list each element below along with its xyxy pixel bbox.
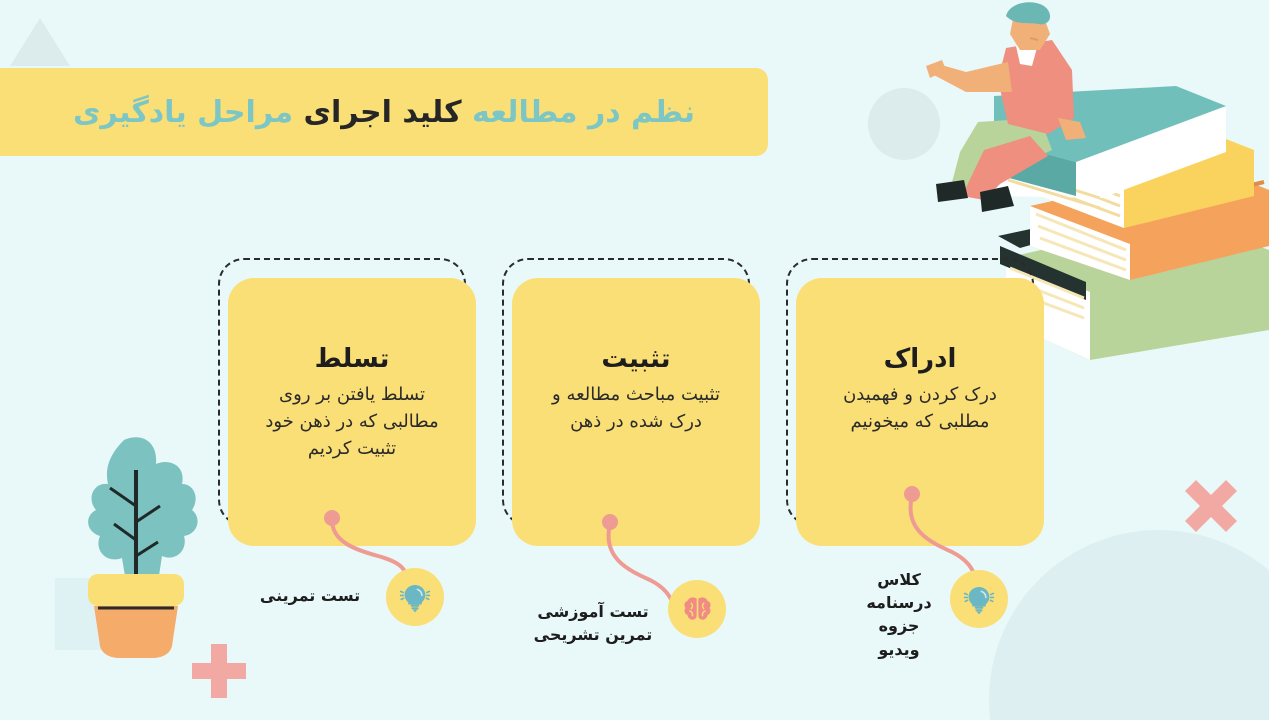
step-card-title: تثبیت [538, 344, 734, 375]
step-card-description: درک کردن و فهمیدن مطلبی که میخونیم [822, 381, 1018, 435]
step-icon-label-tasallot: تست تمرینی [250, 584, 370, 607]
lightbulb-icon [963, 583, 995, 615]
step-icon-badge-tasbit[interactable] [668, 580, 726, 638]
step-icon-label-tasbit: تست آموزشی تمرین تشریحی [528, 600, 658, 646]
title-part-teal-left: مراحل یادگیری [73, 95, 293, 130]
circle-shape-icon [868, 88, 940, 160]
lightbulb-icon [399, 581, 431, 613]
step-card-title: ادراک [822, 344, 1018, 375]
brain-icon [682, 594, 713, 625]
triangle-shape-icon [10, 18, 70, 66]
step-card-title: تسلط [254, 344, 450, 375]
title-part-dark: کلید اجرای [304, 95, 462, 130]
step-icon-badge-edrak[interactable] [950, 570, 1008, 628]
page-title: نظم در مطالعه کلید اجرای مراحل یادگیری [73, 93, 695, 132]
slide-canvas: نظم در مطالعه کلید اجرای مراحل یادگیری ا… [0, 0, 1269, 720]
square-shape-icon [55, 578, 117, 650]
step-icon-badge-tasallot[interactable] [386, 568, 444, 626]
potted-plant-illustration [48, 430, 218, 660]
step-card-description: تسلط یافتن بر روی مطالبی که در ذهن خود ت… [254, 381, 450, 462]
step-card-description: تثبیت مباحث مطالعه و درک شده در ذهن [538, 381, 734, 435]
plus-shape-icon [192, 644, 246, 698]
circle-shape-icon [989, 530, 1269, 720]
x-shape-icon [1185, 480, 1237, 532]
slide-title-banner: نظم در مطالعه کلید اجرای مراحل یادگیری [0, 68, 768, 156]
title-part-teal-right: نظم در مطالعه [472, 95, 695, 130]
step-icon-label-edrak: کلاس درسنامه جزوه ویدیو [858, 568, 940, 661]
step-card-tasbit[interactable]: تثبیت تثبیت مباحث مطالعه و درک شده در ذه… [512, 278, 760, 546]
